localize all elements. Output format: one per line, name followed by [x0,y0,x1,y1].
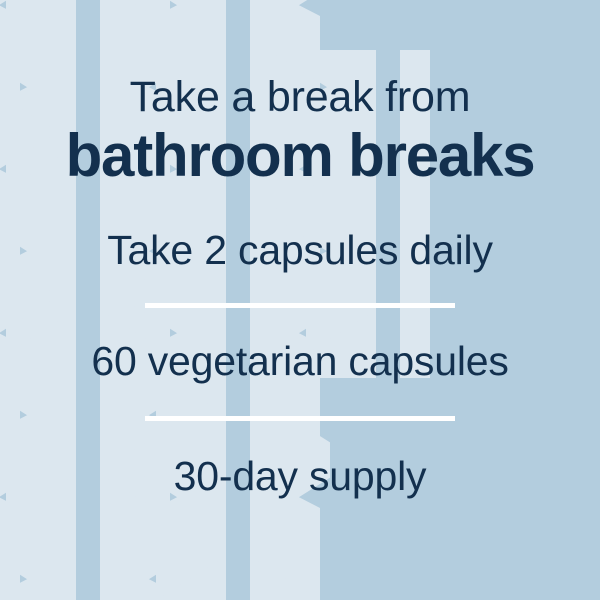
headline-kicker: Take a break from [0,76,600,119]
fact-count: 60 vegetarian capsules [0,341,600,382]
panel-content: Take a break from bathroom breaks Take 2… [0,0,600,600]
divider-2 [145,416,455,421]
fact-dosage: Take 2 capsules daily [0,230,600,271]
fact-supply: 30-day supply [0,456,600,497]
headline-emphasis: bathroom breaks [0,126,600,186]
product-benefit-panel: Take a break from bathroom breaks Take 2… [0,0,600,600]
divider-1 [145,303,455,308]
